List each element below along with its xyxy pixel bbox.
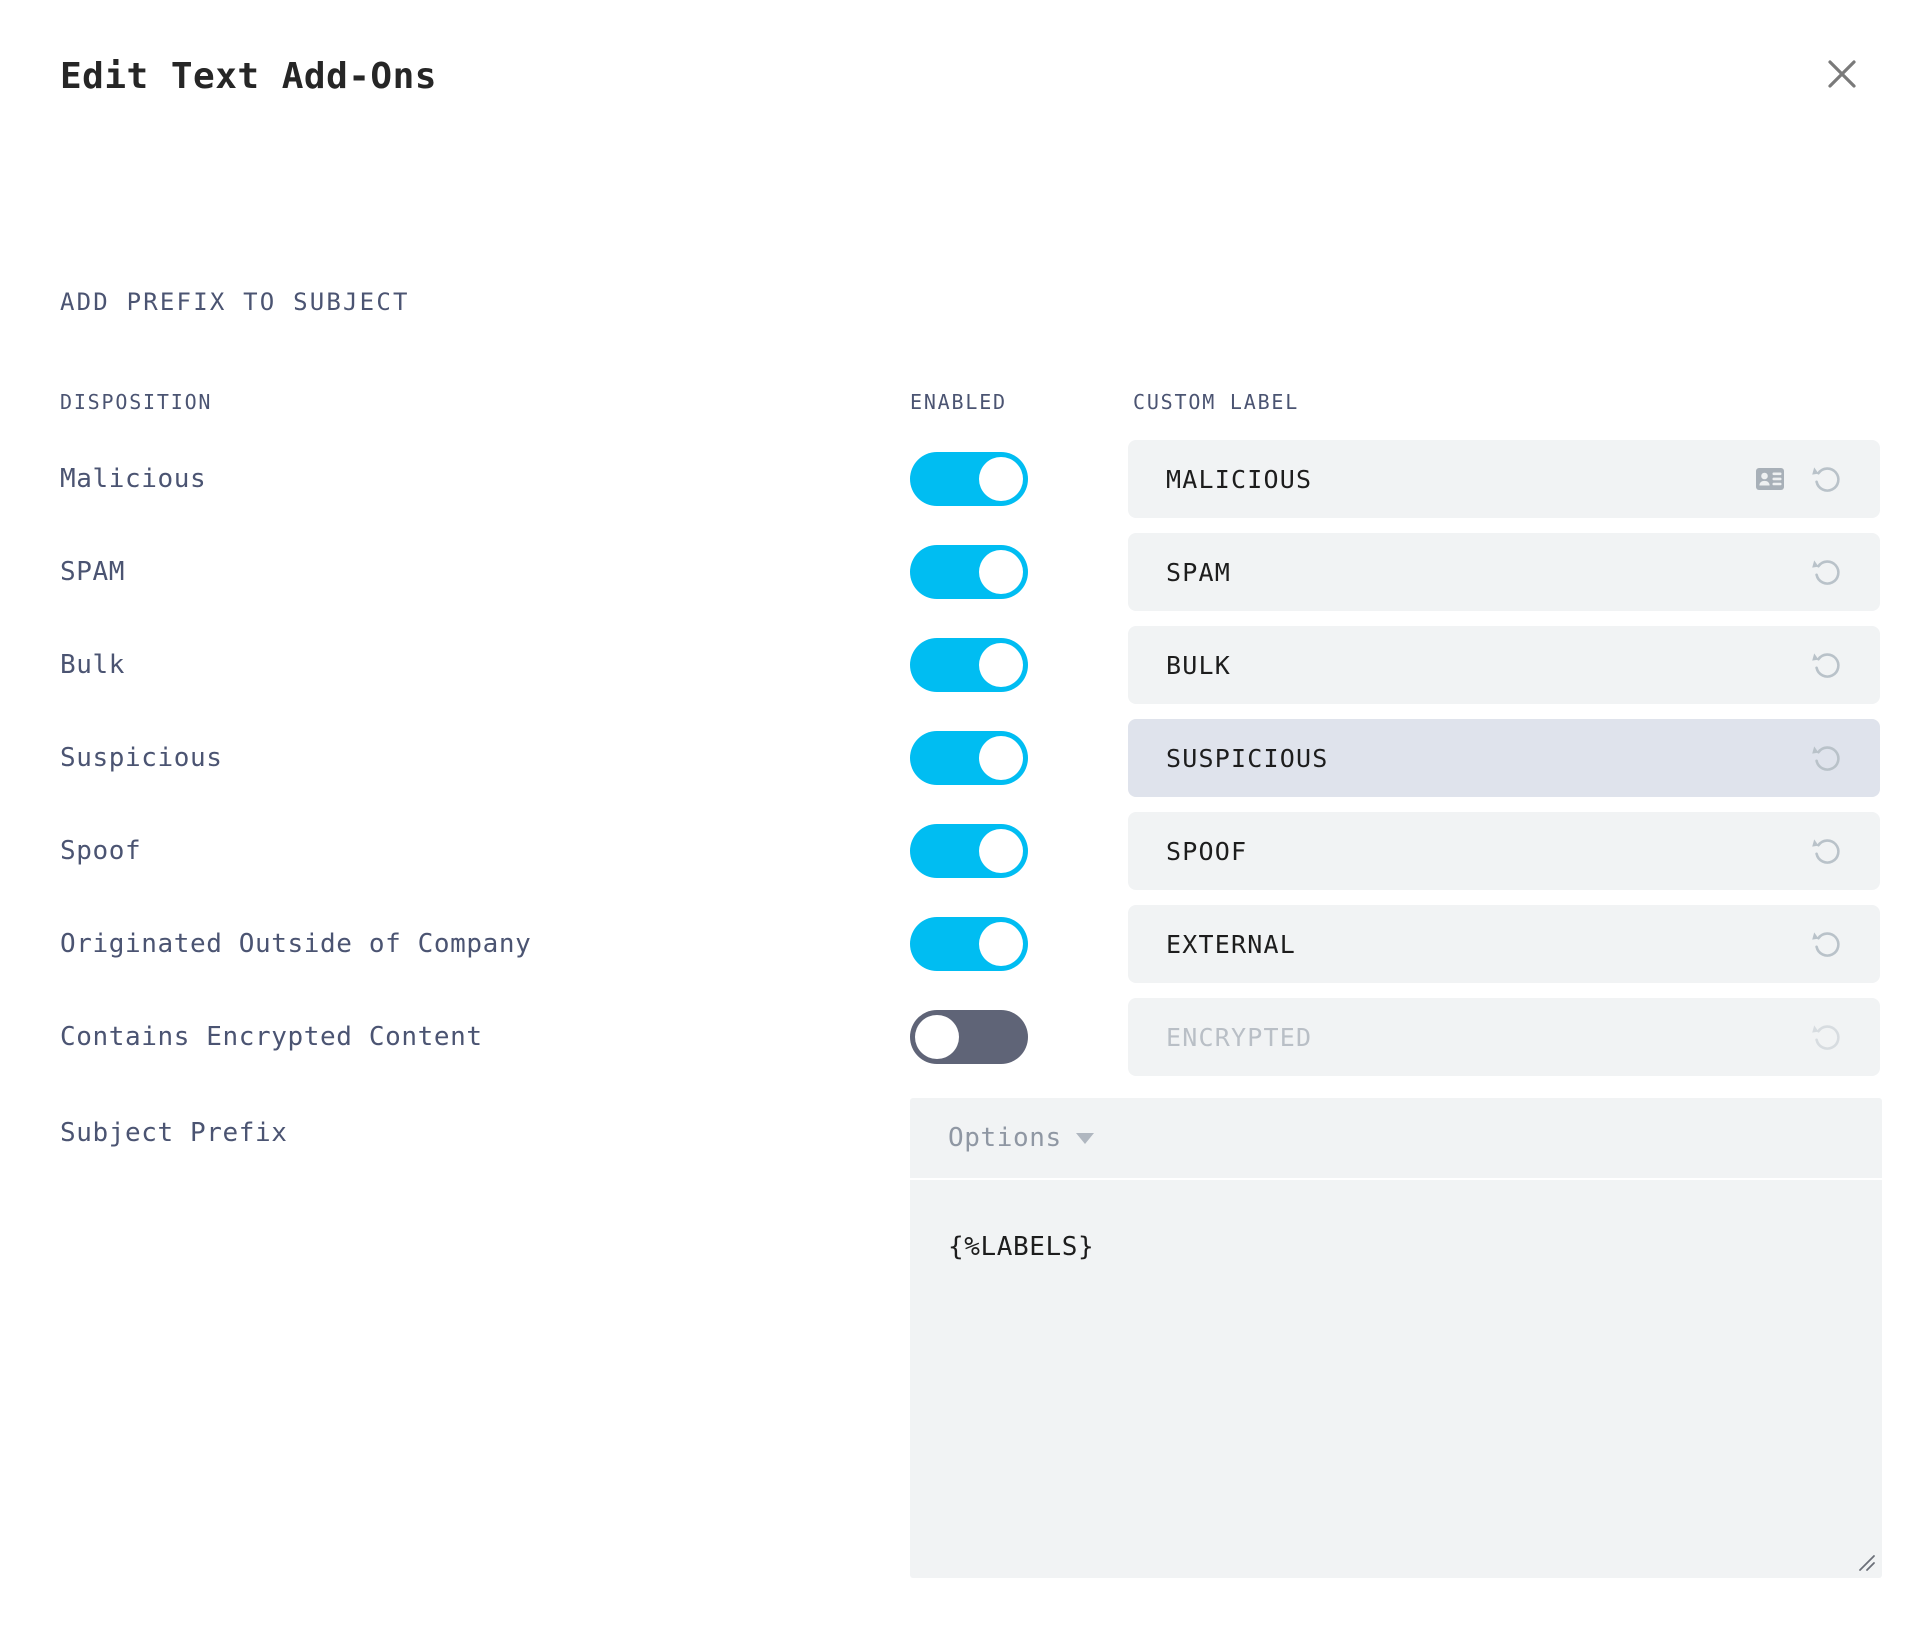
column-header-custom-label: CUSTOM LABEL	[1133, 390, 1299, 414]
custom-label-value: SUSPICIOUS	[1166, 744, 1806, 773]
subject-prefix-editor: Options {%LABELS}	[910, 1098, 1882, 1578]
reset-icon[interactable]	[1806, 645, 1846, 685]
table-row: MaliciousMALICIOUS	[0, 440, 1908, 518]
table-row: Originated Outside of CompanyEXTERNAL	[0, 905, 1908, 983]
input-icon-group	[1806, 738, 1846, 778]
input-icon-group	[1806, 552, 1846, 592]
enabled-toggle[interactable]	[910, 545, 1028, 599]
custom-label-input[interactable]: BULK	[1128, 626, 1880, 704]
dialog-header: Edit Text Add-Ons	[0, 0, 1908, 150]
toggle-knob	[979, 829, 1023, 873]
custom-label-value: ENCRYPTED	[1166, 1023, 1806, 1052]
toggle-knob	[979, 736, 1023, 780]
column-header-enabled: ENABLED	[910, 390, 1007, 414]
disposition-label: Malicious	[60, 464, 206, 494]
custom-label-input[interactable]: SUSPICIOUS	[1128, 719, 1880, 797]
enabled-toggle-cell	[910, 545, 1028, 599]
toggle-knob	[915, 1015, 959, 1059]
reset-icon[interactable]	[1806, 459, 1846, 499]
custom-label-input: ENCRYPTED	[1128, 998, 1880, 1076]
disposition-label: Originated Outside of Company	[60, 929, 531, 959]
section-heading-add-prefix: ADD PREFIX TO SUBJECT	[60, 288, 410, 316]
custom-label-input[interactable]: SPOOF	[1128, 812, 1880, 890]
resize-grip-icon[interactable]	[1850, 1546, 1876, 1572]
reset-icon	[1806, 1017, 1846, 1057]
custom-label-value: EXTERNAL	[1166, 930, 1806, 959]
disposition-label: Spoof	[60, 836, 141, 866]
custom-label-value: MALICIOUS	[1166, 465, 1750, 494]
table-row: SpoofSPOOF	[0, 812, 1908, 890]
close-icon[interactable]	[1812, 44, 1872, 104]
table-row: SPAMSPAM	[0, 533, 1908, 611]
enabled-toggle-cell	[910, 917, 1028, 971]
edit-text-addons-dialog: Edit Text Add-Ons ADD PREFIX TO SUBJECT …	[0, 0, 1908, 1650]
subject-prefix-label: Subject Prefix	[60, 1118, 288, 1148]
chevron-down-icon	[1076, 1133, 1094, 1144]
options-dropdown-label: Options	[948, 1123, 1062, 1153]
disposition-label: Bulk	[60, 650, 125, 680]
options-dropdown[interactable]: Options	[948, 1123, 1094, 1153]
subject-prefix-textarea[interactable]: {%LABELS}	[910, 1180, 1882, 1578]
enabled-toggle-cell	[910, 1010, 1028, 1064]
toggle-knob	[979, 922, 1023, 966]
contact-card-icon[interactable]	[1750, 459, 1790, 499]
input-icon-group	[1806, 1017, 1846, 1057]
reset-icon[interactable]	[1806, 924, 1846, 964]
input-icon-group	[1806, 645, 1846, 685]
input-icon-group	[1806, 924, 1846, 964]
page-title: Edit Text Add-Ons	[60, 56, 437, 97]
enabled-toggle-cell	[910, 452, 1028, 506]
custom-label-value: SPOOF	[1166, 837, 1806, 866]
subject-prefix-value: {%LABELS}	[948, 1232, 1882, 1262]
table-row: Contains Encrypted ContentENCRYPTED	[0, 998, 1908, 1076]
enabled-toggle[interactable]	[910, 638, 1028, 692]
reset-icon[interactable]	[1806, 552, 1846, 592]
disposition-label: SPAM	[60, 557, 125, 587]
editor-toolbar: Options	[910, 1098, 1882, 1180]
toggle-knob	[979, 457, 1023, 501]
custom-label-input[interactable]: EXTERNAL	[1128, 905, 1880, 983]
enabled-toggle[interactable]	[910, 824, 1028, 878]
input-icon-group	[1806, 831, 1846, 871]
custom-label-input[interactable]: SPAM	[1128, 533, 1880, 611]
enabled-toggle[interactable]	[910, 1010, 1028, 1064]
reset-icon[interactable]	[1806, 738, 1846, 778]
table-row: SuspiciousSUSPICIOUS	[0, 719, 1908, 797]
column-header-disposition: DISPOSITION	[60, 390, 212, 414]
input-icon-group	[1750, 459, 1846, 499]
enabled-toggle-cell	[910, 824, 1028, 878]
toggle-knob	[979, 643, 1023, 687]
enabled-toggle[interactable]	[910, 917, 1028, 971]
enabled-toggle[interactable]	[910, 452, 1028, 506]
disposition-label: Contains Encrypted Content	[60, 1022, 483, 1052]
reset-icon[interactable]	[1806, 831, 1846, 871]
enabled-toggle[interactable]	[910, 731, 1028, 785]
custom-label-value: SPAM	[1166, 558, 1806, 587]
custom-label-value: BULK	[1166, 651, 1806, 680]
toggle-knob	[979, 550, 1023, 594]
enabled-toggle-cell	[910, 638, 1028, 692]
custom-label-input[interactable]: MALICIOUS	[1128, 440, 1880, 518]
disposition-label: Suspicious	[60, 743, 223, 773]
table-row: BulkBULK	[0, 626, 1908, 704]
enabled-toggle-cell	[910, 731, 1028, 785]
